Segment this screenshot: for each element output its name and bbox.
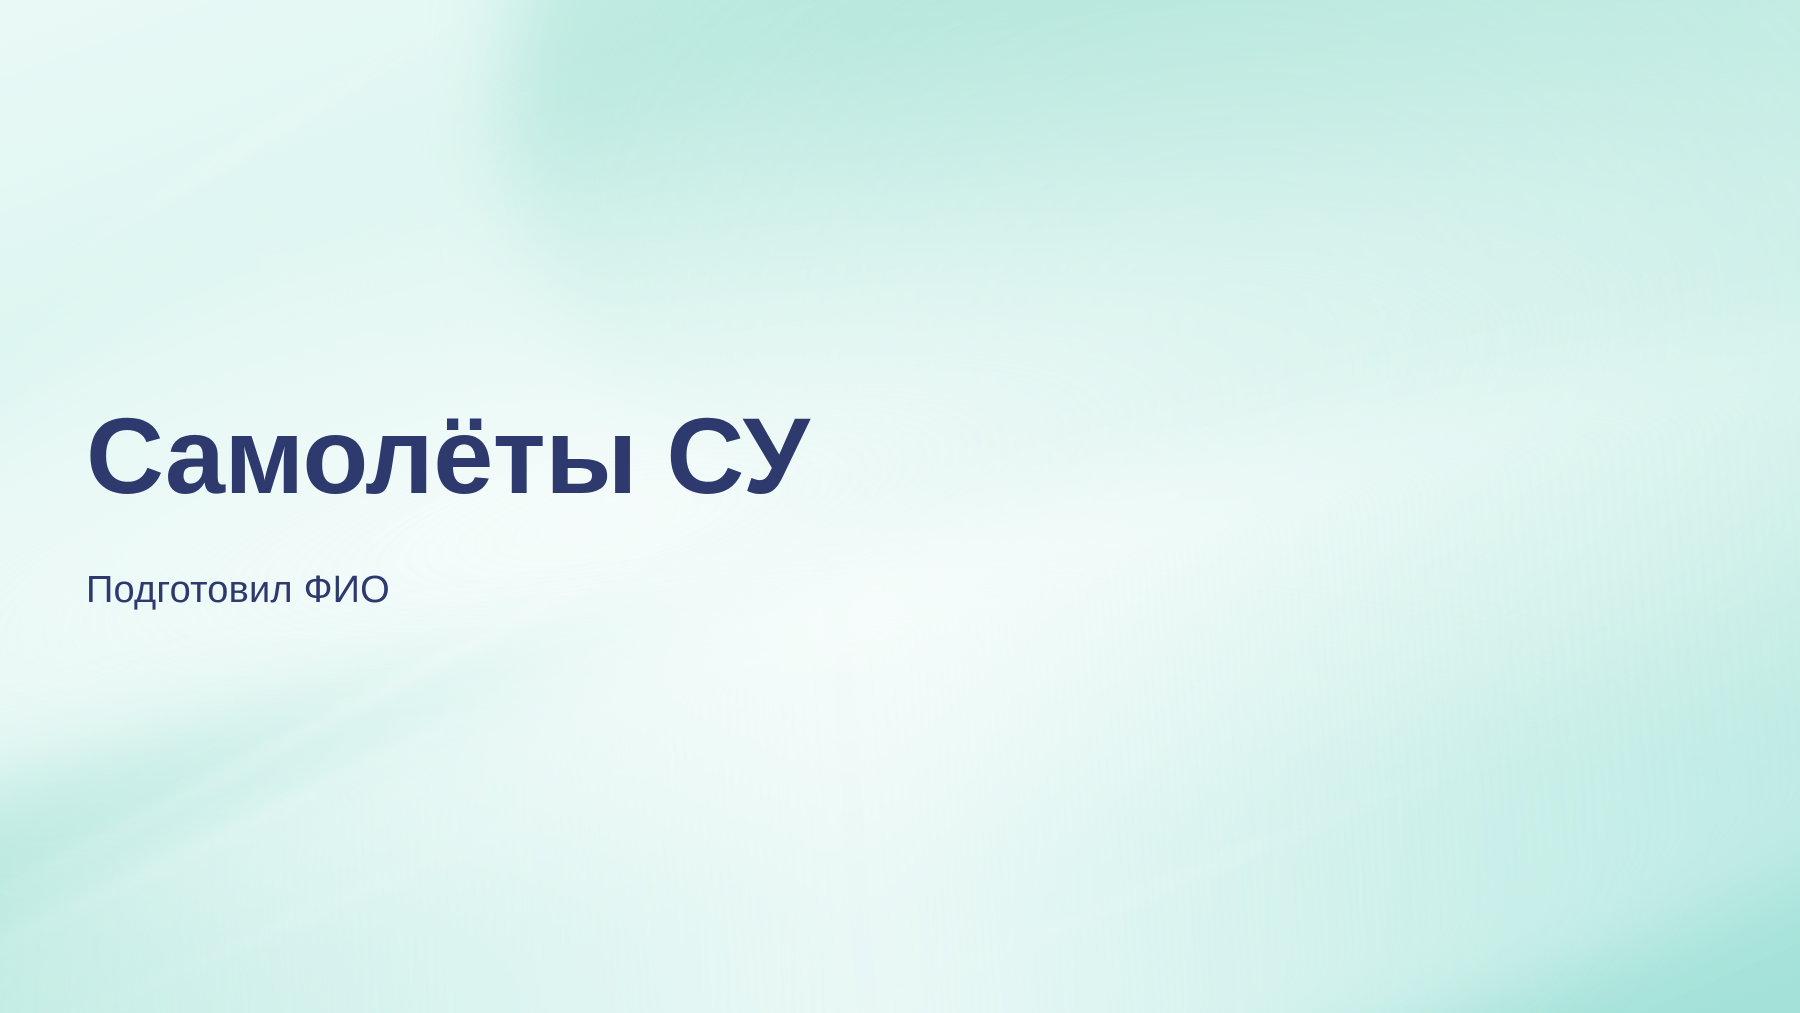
- slide-content: Самолёты СУ Подготовил ФИО: [86, 0, 1286, 1013]
- slide-title: Самолёты СУ: [86, 400, 1286, 512]
- title-slide: Самолёты СУ Подготовил ФИО: [0, 0, 1800, 1013]
- slide-subtitle: Подготовил ФИО: [86, 512, 1286, 614]
